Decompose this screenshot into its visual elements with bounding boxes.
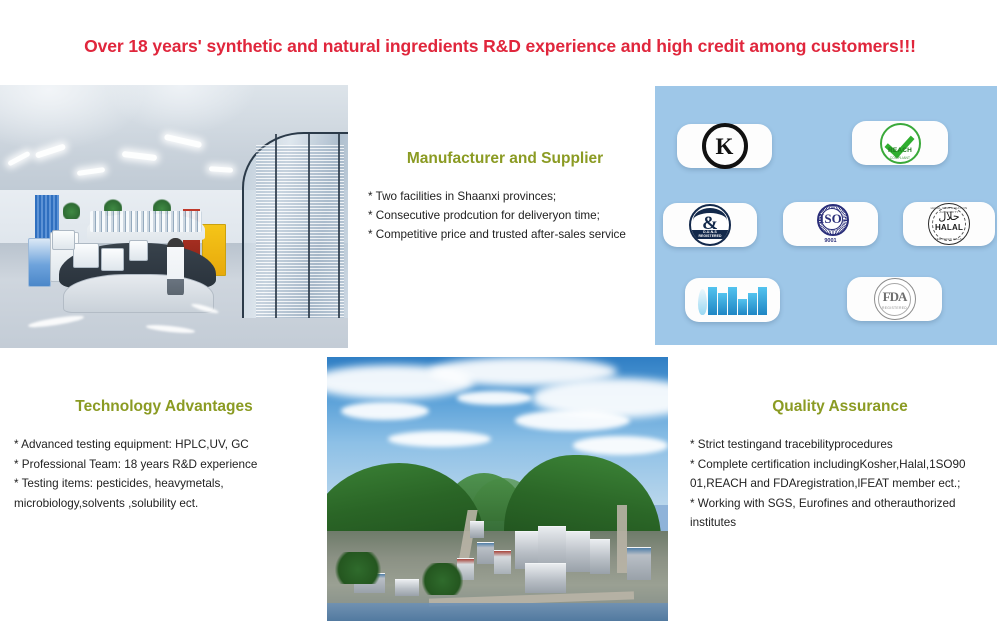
halal-icon: HALAL CERTIFICATION AUTHORITY حلال HALAL… xyxy=(928,203,970,245)
reach-label: REACH xyxy=(882,147,919,154)
ifeat-drop xyxy=(698,289,707,315)
ifeat-bar xyxy=(728,287,737,315)
bullet-item-continuation: institutes xyxy=(690,513,990,533)
section-body-technology: * Advanced testing equipment: HPLC,UV, G… xyxy=(14,435,314,513)
certification-panel: K REACH COMPLIANT & D-U-N-S REGISTERED xyxy=(655,86,997,345)
booth-blinds xyxy=(256,145,344,318)
bullet-item: * Two facilities in Shaanxi provinces; xyxy=(368,187,642,206)
ceiling-light xyxy=(209,166,234,172)
bullet-item: * Working with SGS, Eurofines and othera… xyxy=(690,494,990,514)
section-title-technology: Technology Advantages xyxy=(14,398,314,416)
iso-number: 9001 xyxy=(811,238,851,244)
potted-plant xyxy=(63,201,80,219)
section-body-manufacturer: * Two facilities in Shaanxi provinces; *… xyxy=(368,187,642,244)
ifeat-icon xyxy=(694,285,772,315)
cert-card-reach[interactable]: REACH COMPLIANT xyxy=(852,121,948,165)
ifeat-bar xyxy=(748,293,757,315)
fda-label: FDA xyxy=(875,290,915,303)
lab-instrument xyxy=(52,230,75,250)
section-body-quality: * Strict testingand tracebilityprocedure… xyxy=(690,435,990,533)
booth-mullion xyxy=(275,134,277,318)
lab-instrument xyxy=(101,248,124,271)
lab-bench-base xyxy=(63,274,215,313)
reach-icon: REACH COMPLIANT xyxy=(880,123,921,164)
fda-icon: FDA REGISTERED xyxy=(874,278,916,320)
river xyxy=(327,603,668,621)
tree-cluster xyxy=(334,552,382,584)
cert-card-halal[interactable]: HALAL CERTIFICATION AUTHORITY حلال HALAL… xyxy=(903,202,995,246)
town-building xyxy=(477,542,494,564)
fda-sublabel: REGISTERED xyxy=(875,306,915,310)
halal-arabic: حلال xyxy=(929,212,969,223)
lab-instrument xyxy=(73,243,99,269)
page-headline: Over 18 years' synthetic and natural ing… xyxy=(0,36,1000,57)
section-technology: Technology Advantages * Advanced testing… xyxy=(14,398,314,513)
bullet-item-continuation: microbiology,solvents ,solubility ect. xyxy=(14,494,314,514)
bullet-item: * Strict testingand tracebilityprocedure… xyxy=(690,435,990,455)
side-road xyxy=(617,505,627,574)
blue-lab-unit xyxy=(28,238,51,287)
bullet-item: * Consecutive prodcution for deliveryon … xyxy=(368,206,642,225)
halal-label: HALAL xyxy=(929,223,969,232)
lab-technician xyxy=(167,238,184,296)
glass-booth xyxy=(242,132,348,318)
town-building xyxy=(525,563,566,593)
ifeat-bar xyxy=(708,287,717,315)
iso-icon: ISO 9001 xyxy=(811,204,851,244)
bullet-item: * Complete certification includingKosher… xyxy=(690,455,990,475)
iso-label: ISO xyxy=(811,212,851,225)
duns-icon: & D-U-N-S REGISTERED xyxy=(689,204,731,246)
town-building xyxy=(494,550,511,575)
cert-card-iso[interactable]: ISO 9001 xyxy=(783,202,878,246)
cert-card-ifeat[interactable] xyxy=(685,278,780,322)
bullet-item: * Professional Team: 18 years R&D experi… xyxy=(14,455,314,475)
town-building xyxy=(590,539,610,574)
town-building xyxy=(627,547,651,580)
bullet-item: * Competitive price and trusted after-sa… xyxy=(368,225,642,244)
lab-panorama-photo xyxy=(0,85,348,348)
town-building xyxy=(566,531,590,572)
certification-grid: K REACH COMPLIANT & D-U-N-S REGISTERED xyxy=(655,86,997,345)
aerial-panorama-photo xyxy=(327,357,668,621)
kosher-letter: K xyxy=(716,135,734,158)
section-title-manufacturer: Manufacturer and Supplier xyxy=(368,150,642,168)
bullet-item: * Advanced testing equipment: HPLC,UV, G… xyxy=(14,435,314,455)
booth-mullion xyxy=(308,134,310,318)
lab-instrument xyxy=(129,240,148,260)
ifeat-bar xyxy=(738,299,747,315)
section-quality: Quality Assurance * Strict testingand tr… xyxy=(690,398,990,533)
cert-card-fda[interactable]: FDA REGISTERED xyxy=(847,277,942,321)
town-building xyxy=(395,579,419,596)
duns-bar-label: D-U-N-S REGISTERED xyxy=(692,230,728,239)
booth-mullion xyxy=(338,134,340,318)
reagent-bottles xyxy=(90,211,201,232)
tree-cluster xyxy=(422,563,463,595)
ifeat-bar xyxy=(758,287,767,315)
kosher-icon: K xyxy=(702,123,748,169)
section-title-quality: Quality Assurance xyxy=(690,398,990,416)
cloud xyxy=(457,391,532,404)
cloud xyxy=(515,410,631,431)
cloud xyxy=(388,431,490,447)
halal-bottom-label: CERTIFIED HALAL xyxy=(929,237,969,241)
town-building xyxy=(470,521,484,538)
bullet-item-continuation: 01,REACH and FDAregistration,lFEAT membe… xyxy=(690,474,990,494)
cert-card-kosher[interactable]: K xyxy=(677,124,772,168)
infographic-canvas: Over 18 years' synthetic and natural ing… xyxy=(0,0,1000,641)
cert-card-duns[interactable]: & D-U-N-S REGISTERED xyxy=(663,203,757,247)
section-manufacturer: Manufacturer and Supplier * Two faciliti… xyxy=(368,150,642,244)
reach-sublabel: COMPLIANT xyxy=(882,156,919,160)
bullet-item: * Testing items: pesticides, heavymetals… xyxy=(14,474,314,494)
ifeat-bar xyxy=(718,293,727,315)
cloud xyxy=(573,436,668,454)
duns-bar: D-U-N-S REGISTERED xyxy=(692,230,728,239)
